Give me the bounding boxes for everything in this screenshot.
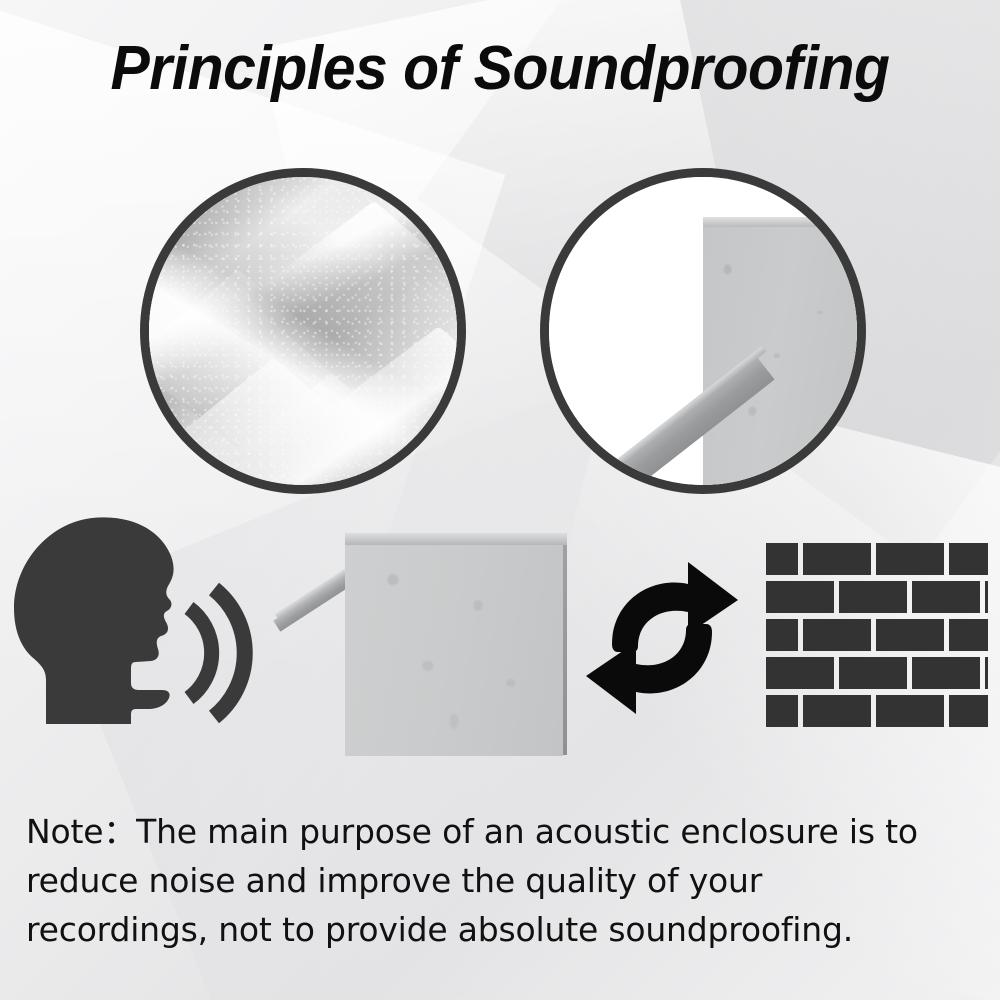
brick	[985, 581, 988, 613]
speaking-head-icon	[8, 512, 268, 762]
note-text: Note：The main purpose of an acoustic enc…	[26, 808, 946, 954]
acoustic-foam-icon	[149, 177, 457, 485]
acoustic-enclosure-box	[262, 525, 572, 755]
panel-face	[703, 220, 857, 485]
brick-row	[766, 543, 988, 575]
brick	[839, 581, 907, 613]
brick	[766, 581, 834, 613]
brick-row	[766, 619, 988, 651]
brick	[876, 695, 944, 727]
panel-face-top-edge	[703, 217, 857, 227]
brick	[803, 619, 871, 651]
brick-row	[766, 657, 988, 689]
brick	[803, 695, 871, 727]
brick	[803, 543, 871, 575]
brick-wall-icon	[766, 543, 988, 735]
brick	[949, 619, 988, 651]
brick	[839, 657, 907, 689]
brick	[876, 543, 944, 575]
speaking-head-group	[8, 512, 268, 762]
brick-row	[766, 581, 988, 613]
brick	[876, 619, 944, 651]
bidirectional-exchange-arrows-icon	[576, 552, 748, 724]
brick-row	[766, 695, 988, 727]
brick	[766, 619, 798, 651]
brick	[949, 695, 988, 727]
soundproofing-infographic: Principles of Soundproofing	[0, 0, 1000, 1000]
brick	[985, 657, 988, 689]
enclosure-speckle-overlay	[345, 541, 563, 756]
exchange-arrows-svg	[576, 552, 748, 724]
enclosure-lid	[345, 533, 567, 545]
brick	[949, 543, 988, 575]
page-title: Principles of Soundproofing	[25, 36, 975, 101]
enclosure-panel-icon	[549, 177, 857, 485]
circle-enclosure-panel	[540, 168, 866, 494]
brick	[766, 695, 798, 727]
brick	[766, 657, 834, 689]
enclosure-front-face	[345, 541, 563, 756]
panel-scene	[549, 177, 857, 485]
brick	[912, 657, 980, 689]
brick	[912, 581, 980, 613]
circle-acoustic-foam	[140, 168, 466, 494]
foam-grain-overlay	[149, 177, 457, 485]
brick	[766, 543, 798, 575]
